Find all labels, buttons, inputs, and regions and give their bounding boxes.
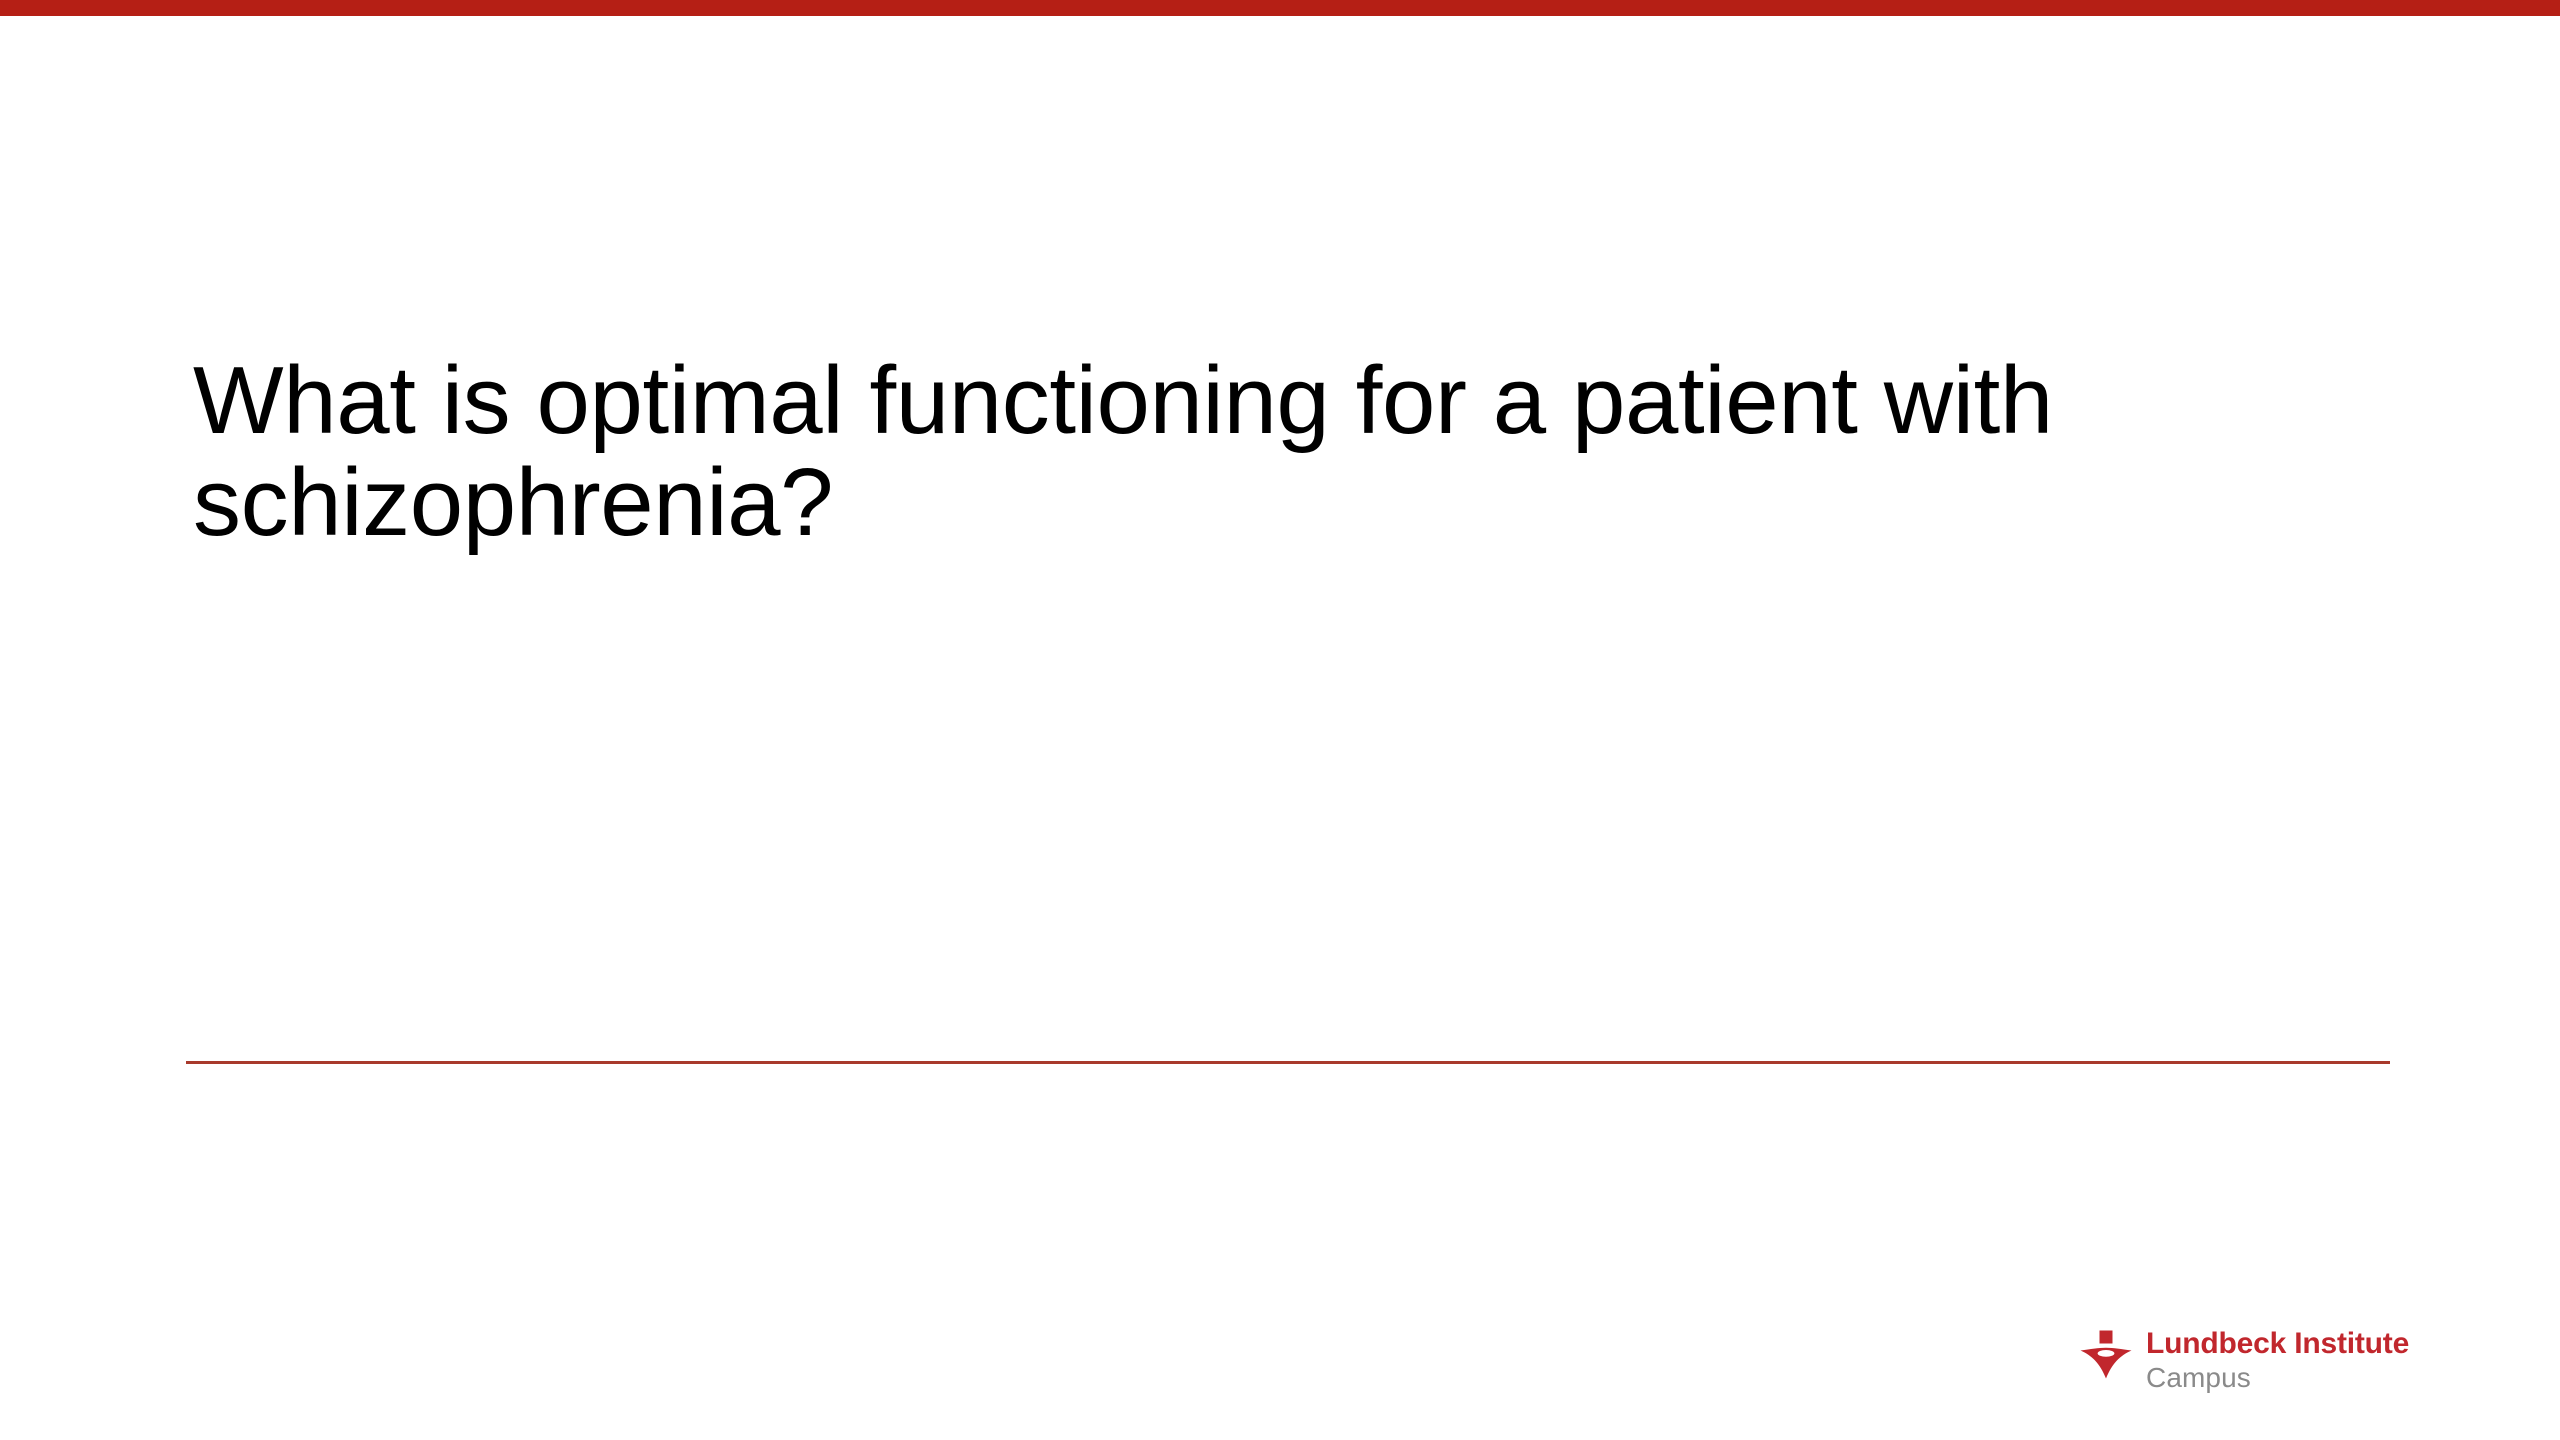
brand-name: Lundbeck Institute — [2146, 1328, 2409, 1360]
slide-title-block: What is optimal functioning for a patien… — [193, 350, 2293, 554]
brand-subname: Campus — [2146, 1362, 2409, 1393]
page-title: What is optimal functioning for a patien… — [193, 350, 2293, 554]
top-accent-bar — [0, 0, 2560, 16]
lundbeck-logo-mark-icon — [2080, 1330, 2132, 1392]
brand-wordmark: Lundbeck Institute Campus — [2146, 1328, 2409, 1393]
horizontal-divider-rule — [186, 1061, 2390, 1064]
brand-logo-lockup: Lundbeck Institute Campus — [2080, 1328, 2409, 1393]
slide-canvas: What is optimal functioning for a patien… — [0, 0, 2560, 1440]
